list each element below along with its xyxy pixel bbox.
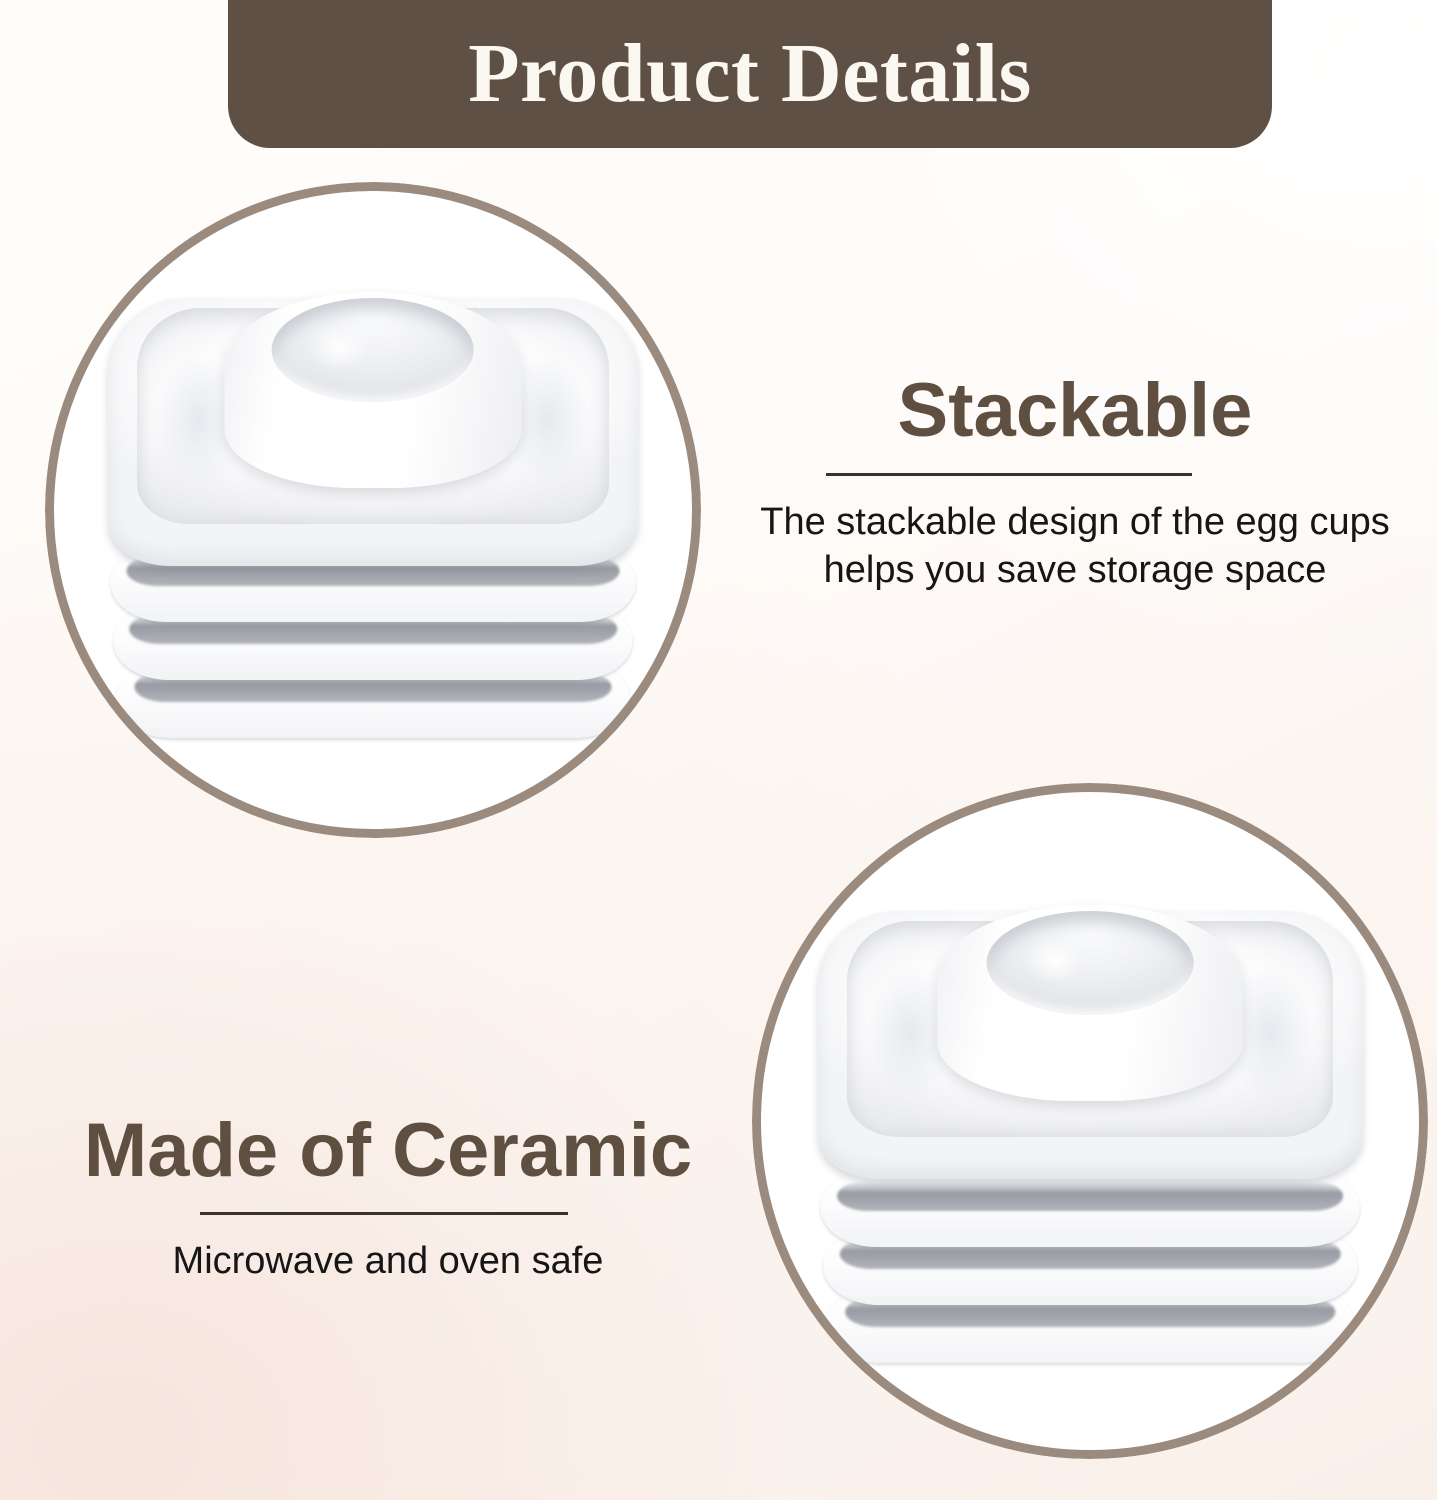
header-banner: Product Details xyxy=(228,0,1272,148)
page-title: Product Details xyxy=(468,22,1032,116)
feature-stackable: Stackable The stackable design of the eg… xyxy=(722,372,1428,595)
egg-cup-cavity xyxy=(986,911,1194,1015)
feature-ceramic-divider xyxy=(200,1212,568,1215)
stack-gap-3 xyxy=(837,1181,1344,1211)
feature-ceramic: Made of Ceramic Microwave and oven safe xyxy=(18,1112,758,1285)
egg-cup-pedestal xyxy=(225,292,522,488)
product-image-bottom-right xyxy=(752,783,1428,1459)
stack-plate-top xyxy=(108,298,638,566)
feature-stackable-title: Stackable xyxy=(722,372,1428,450)
product-image-top-left xyxy=(45,182,701,838)
stack-plate-top xyxy=(818,911,1363,1179)
egg-cup-stack-illustration xyxy=(108,298,638,738)
feature-stackable-description: The stackable design of the egg cups hel… xyxy=(722,498,1428,595)
feature-ceramic-title: Made of Ceramic xyxy=(18,1112,758,1190)
egg-cup-cavity xyxy=(272,298,474,402)
egg-cup-pedestal xyxy=(937,905,1242,1101)
egg-cup-stack-illustration xyxy=(818,911,1363,1363)
feature-stackable-divider xyxy=(826,473,1192,476)
feature-ceramic-description: Microwave and oven safe xyxy=(18,1237,758,1286)
product-details-page: Product Details xyxy=(0,0,1437,1500)
